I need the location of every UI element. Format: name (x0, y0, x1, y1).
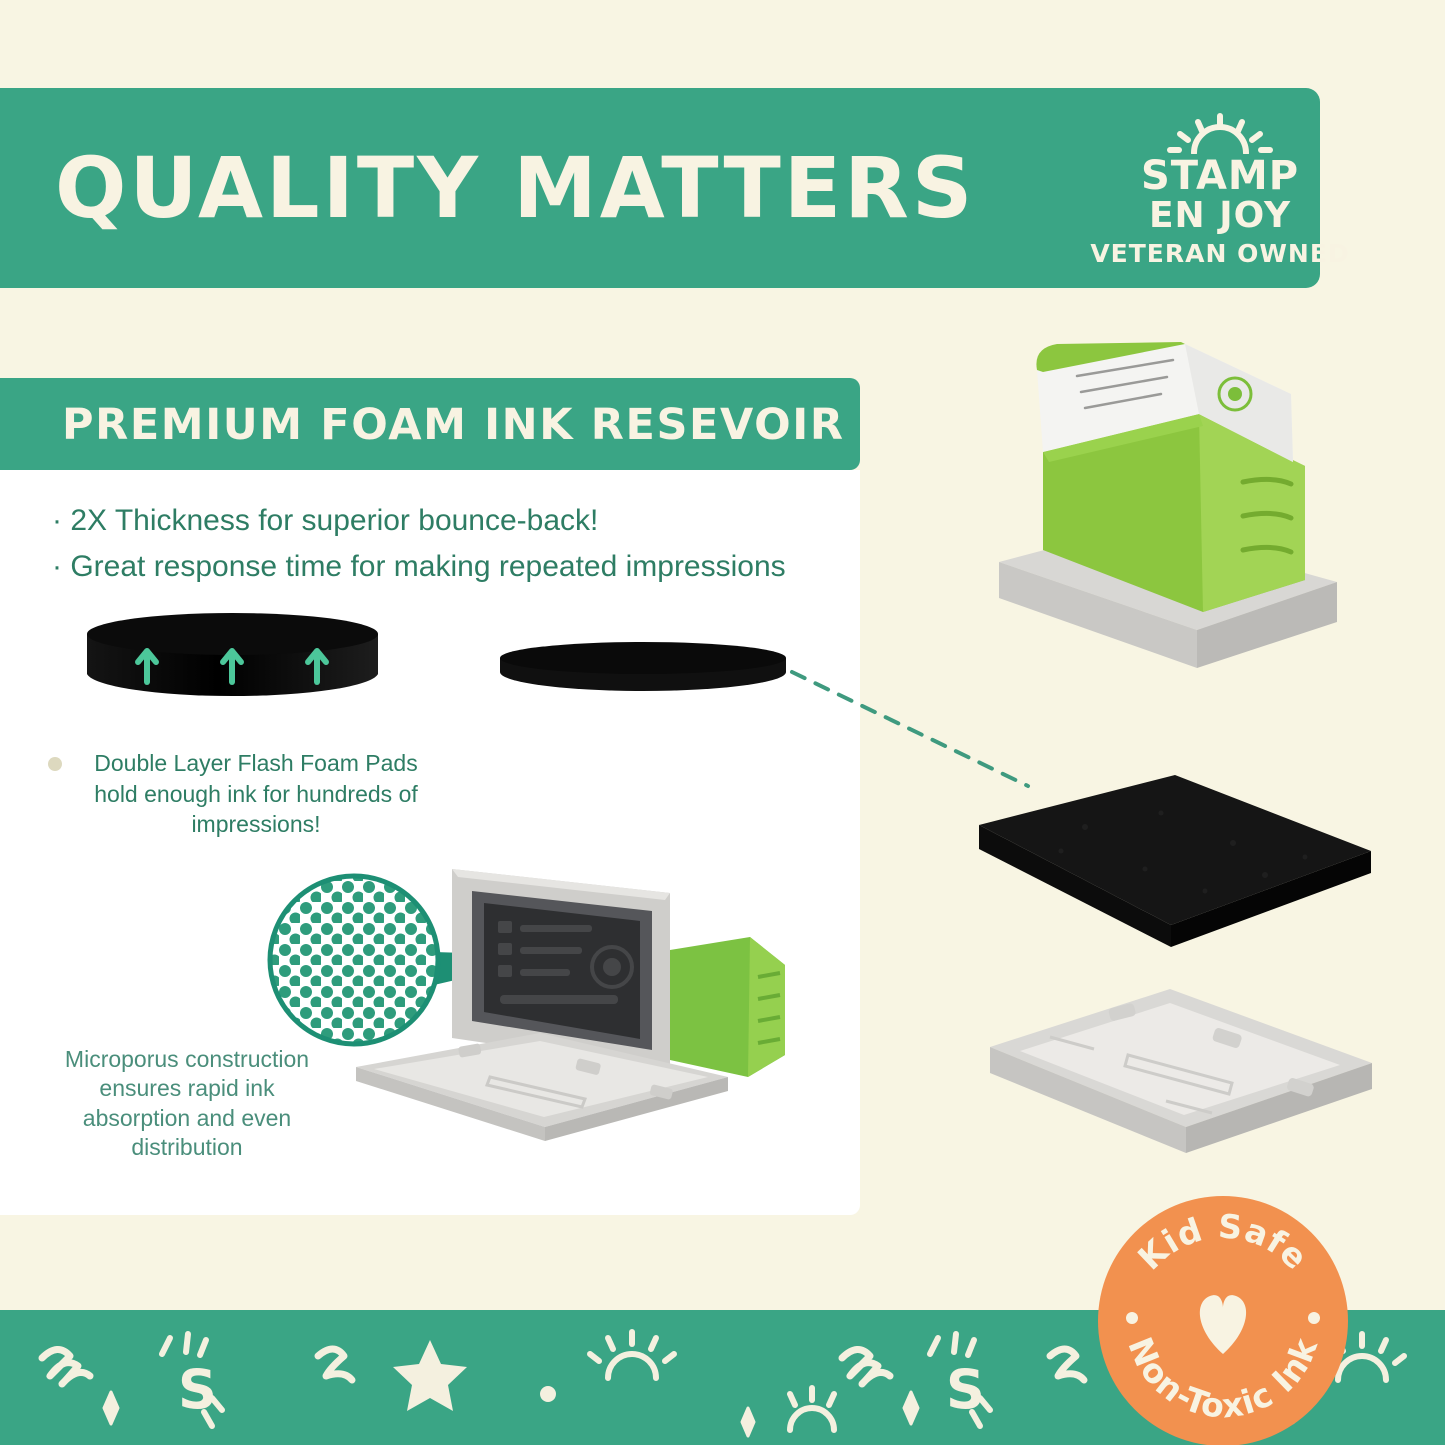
feature-bullet-list: · 2X Thickness for superior bounce-back!… (52, 498, 852, 589)
brand-logo: STAMP EN JOY VETERAN OWNED (1085, 112, 1355, 292)
thin-foam-pad-illustration (498, 640, 788, 692)
badge-dot-left (1126, 1312, 1138, 1324)
foam-pad-caption-text: Double Layer Flash Foam Pads hold enough… (74, 748, 438, 840)
foam-pad-caption: Double Layer Flash Foam Pads hold enough… (48, 748, 438, 840)
tray-product-photo (980, 955, 1380, 1165)
section-heading: PREMIUM FOAM INK RESEVOIR (62, 396, 852, 454)
feature-bullet-0: · 2X Thickness for superior bounce-back! (52, 498, 852, 544)
badge-content: Kid Safe Non-Toxic Ink (1098, 1196, 1348, 1445)
infographic-canvas: Quality Matters STAMP EN JOY VETERAN OWN… (0, 0, 1445, 1445)
badge-top-text: Kid Safe (1130, 1206, 1316, 1277)
svg-text:S: S (946, 1358, 985, 1421)
feature-bullet-1: · Great response time for making repeate… (52, 544, 852, 590)
heart-icon (1200, 1295, 1246, 1354)
microporus-caption: Microporus construction ensures rapid in… (62, 1045, 312, 1163)
stamp-product-photo (985, 330, 1385, 730)
svg-text:S: S (178, 1358, 217, 1421)
badge-dot-right (1308, 1312, 1320, 1324)
logo-line-2: EN JOY (1085, 196, 1355, 236)
svg-text:Kid Safe: Kid Safe (1130, 1206, 1316, 1277)
foam-pad-product-photo (965, 765, 1385, 955)
page-title: Quality Matters (55, 128, 885, 248)
open-stamp-case-photo (340, 855, 840, 1165)
thick-foam-pad-illustration (85, 612, 380, 704)
logo-line-1: STAMP (1085, 156, 1355, 196)
sunrise-icon (1154, 112, 1286, 154)
kid-safe-badge: Kid Safe Non-Toxic Ink (1098, 1196, 1348, 1445)
logo-line-3: VETERAN OWNED (1085, 239, 1355, 269)
bullet-dot-icon (48, 757, 62, 771)
